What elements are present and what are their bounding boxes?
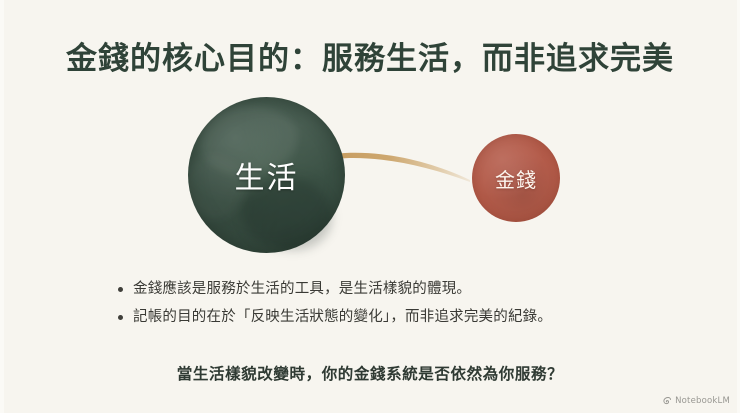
- bullet-text: 記帳的目的在於「反映生活狀態的變化」，而非追求完美的紀錄。: [133, 307, 552, 327]
- list-item: 記帳的目的在於「反映生活狀態的變化」，而非追求完美的紀錄。: [118, 307, 678, 327]
- bullet-list: 金錢應該是服務於生活的工具，是生活樣貌的體現。 記帳的目的在於「反映生活狀態的變…: [118, 279, 678, 335]
- money-circle-label: 金錢: [472, 134, 560, 222]
- concept-diagram: 生活 金錢: [0, 85, 740, 265]
- list-item: 金錢應該是服務於生活的工具，是生活樣貌的體現。: [118, 279, 678, 299]
- money-to-life-arrow: [0, 85, 740, 265]
- life-circle: 生活: [188, 97, 345, 253]
- bullet-dot-icon: [118, 287, 123, 292]
- money-circle: 金錢: [472, 134, 560, 222]
- arrow-tail: [323, 153, 470, 182]
- bullet-text: 金錢應該是服務於生活的工具，是生活樣貌的體現。: [133, 279, 471, 299]
- notebooklm-spiral-icon: [661, 396, 671, 406]
- watermark-label: NotebookLM: [675, 396, 730, 406]
- slide-canvas: 金錢的核心目的：服務生活，而非追求完美 生活 金錢: [0, 0, 740, 413]
- bullet-dot-icon: [118, 315, 123, 320]
- page-title: 金錢的核心目的：服務生活，而非追求完美: [0, 33, 740, 78]
- emphasis-question: 當生活樣貌改變時，你的金錢系統是否依然為你服務？: [0, 362, 740, 384]
- life-circle-label: 生活: [188, 97, 345, 253]
- notebooklm-watermark: NotebookLM: [661, 396, 730, 406]
